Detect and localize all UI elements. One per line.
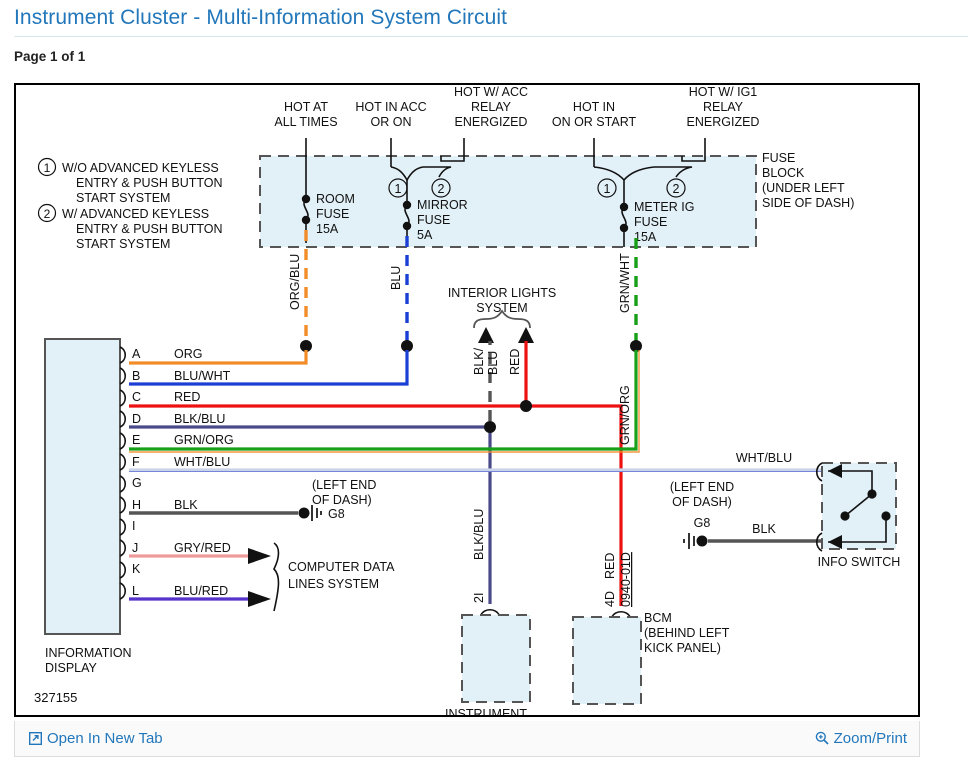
svg-text:RED: RED bbox=[174, 390, 200, 404]
magnifier-plus-icon bbox=[815, 731, 829, 749]
svg-text:E: E bbox=[132, 433, 140, 447]
page-root: Instrument Cluster - Multi-Information S… bbox=[0, 0, 968, 777]
svg-text:KICK PANEL): KICK PANEL) bbox=[644, 641, 721, 655]
svg-text:METER IG: METER IG bbox=[634, 200, 694, 214]
switch-contact-dot bbox=[867, 489, 876, 498]
open-in-new-tab-label: Open In New Tab bbox=[47, 730, 163, 747]
fuse-terminal-dot bbox=[403, 201, 411, 209]
svg-text:SIDE OF DASH): SIDE OF DASH) bbox=[762, 196, 854, 210]
legend-marker-1-text: 1 bbox=[44, 161, 51, 175]
wiring-diagram: HOT ATALL TIMES HOT IN ACCOR ON HOT W/ A… bbox=[16, 85, 918, 715]
svg-text:J: J bbox=[132, 541, 138, 555]
information-display-box bbox=[45, 339, 120, 634]
svg-text:(BEHIND LEFT: (BEHIND LEFT bbox=[644, 626, 730, 640]
ground-node-dot bbox=[299, 508, 310, 519]
label-blk-blu-lower: BLK/BLU bbox=[472, 509, 486, 560]
svg-text:ENERGIZED: ENERGIZED bbox=[455, 115, 528, 129]
information-display-label: INFORMATION DISPLAY bbox=[45, 646, 132, 675]
label-wht-blu-info-switch: WHT/BLU bbox=[736, 451, 792, 465]
label-org-blu: ORG/BLU bbox=[288, 254, 302, 310]
svg-text:GRY/RED: GRY/RED bbox=[174, 541, 231, 555]
svg-text:ON OR START: ON OR START bbox=[552, 115, 637, 129]
svg-text:HOT W/ ACC: HOT W/ ACC bbox=[454, 85, 528, 99]
svg-text:BLU/WHT: BLU/WHT bbox=[174, 369, 231, 383]
svg-text:FUSE: FUSE bbox=[316, 207, 349, 221]
title-divider bbox=[14, 36, 968, 37]
junction-dot-red bbox=[520, 400, 532, 412]
computer-data-arrow-1 bbox=[248, 548, 271, 564]
info-switch-label: INFO SWITCH bbox=[818, 555, 901, 569]
svg-text:BLK/BLU: BLK/BLU bbox=[174, 412, 225, 426]
fuse-terminal-dot bbox=[302, 195, 310, 203]
svg-text:FUSE: FUSE bbox=[417, 213, 450, 227]
fuse-terminal-dot bbox=[403, 222, 411, 230]
svg-text:OF DASH): OF DASH) bbox=[312, 493, 372, 507]
bcm-pin-wire-red: RED bbox=[603, 553, 617, 579]
svg-text:BLOCK: BLOCK bbox=[762, 166, 805, 180]
power-source-labels: HOT ATALL TIMES HOT IN ACCOR ON HOT W/ A… bbox=[274, 85, 759, 129]
label-blk-info-switch: BLK bbox=[752, 522, 776, 536]
instrument-cluster-pin: 2I bbox=[472, 593, 486, 603]
bcm-box bbox=[573, 617, 641, 704]
svg-text:HOT W/ IG1: HOT W/ IG1 bbox=[689, 85, 758, 99]
svg-text:K: K bbox=[132, 562, 141, 576]
svg-text:DISPLAY: DISPLAY bbox=[45, 661, 98, 675]
svg-text:G: G bbox=[132, 476, 142, 490]
svg-text:W/O ADVANCED KEYLESS: W/O ADVANCED KEYLESS bbox=[62, 161, 219, 175]
svg-text:SYSTEM: SYSTEM bbox=[476, 301, 527, 315]
svg-text:RELAY: RELAY bbox=[703, 100, 744, 114]
instrument-cluster-label: INSTRUMENT CLUSTER bbox=[445, 707, 527, 715]
left-end-of-dash-note-2: (LEFT END OF DASH) bbox=[670, 480, 734, 509]
svg-text:HOT AT: HOT AT bbox=[284, 100, 328, 114]
fuse-block-label: FUSE BLOCK (UNDER LEFT SIDE OF DASH) bbox=[762, 151, 854, 210]
svg-text:LINES SYSTEM: LINES SYSTEM bbox=[288, 577, 379, 591]
label-grn-org: GRN/ORG bbox=[618, 385, 632, 445]
junction-dot-blkblu bbox=[484, 421, 496, 433]
svg-text:BLK: BLK bbox=[174, 498, 198, 512]
svg-text:D: D bbox=[132, 412, 141, 426]
splice-marker-2: 2 bbox=[438, 182, 445, 196]
svg-text:C: C bbox=[132, 390, 141, 404]
zoom-print-label: Zoom/Print bbox=[834, 730, 907, 747]
label-red-upper: RED bbox=[508, 349, 522, 375]
fuse-terminal-dot bbox=[620, 224, 628, 232]
svg-text:HOT IN ACC: HOT IN ACC bbox=[355, 100, 426, 114]
svg-text:L: L bbox=[132, 584, 139, 598]
svg-text:ENERGIZED: ENERGIZED bbox=[687, 115, 760, 129]
svg-text:MIRROR: MIRROR bbox=[417, 198, 468, 212]
interior-lights-arrow-red bbox=[518, 327, 534, 343]
svg-text:RELAY: RELAY bbox=[471, 100, 512, 114]
page-title: Instrument Cluster - Multi-Information S… bbox=[14, 6, 507, 30]
svg-text:FUSE: FUSE bbox=[634, 215, 667, 229]
svg-text:START SYSTEM: START SYSTEM bbox=[76, 191, 170, 205]
label-grn-wht: GRN/WHT bbox=[618, 253, 632, 313]
fuse-terminal-dot bbox=[302, 216, 310, 224]
ground-label-g8-left: G8 bbox=[328, 507, 345, 521]
svg-text:OF DASH): OF DASH) bbox=[672, 495, 732, 509]
open-in-new-tab-button[interactable]: Open In New Tab bbox=[29, 730, 163, 749]
svg-text:5A: 5A bbox=[417, 228, 433, 242]
svg-text:BCM: BCM bbox=[644, 611, 672, 625]
svg-text:COMPUTER DATA: COMPUTER DATA bbox=[288, 560, 395, 574]
svg-text:(LEFT END: (LEFT END bbox=[312, 478, 376, 492]
svg-text:INTERIOR LIGHTS: INTERIOR LIGHTS bbox=[448, 286, 556, 300]
left-end-of-dash-note-1: (LEFT END OF DASH) bbox=[312, 478, 376, 507]
svg-text:A: A bbox=[132, 347, 141, 361]
svg-text:BLU/RED: BLU/RED bbox=[174, 584, 228, 598]
svg-text:WHT/BLU: WHT/BLU bbox=[174, 455, 230, 469]
svg-text:15A: 15A bbox=[316, 222, 339, 236]
svg-text:ENTRY & PUSH BUTTON: ENTRY & PUSH BUTTON bbox=[76, 222, 223, 236]
diagram-number: 327155 bbox=[34, 690, 77, 705]
viewer-footer: Open In New Tab Zoom/Print bbox=[14, 721, 920, 757]
zoom-print-button[interactable]: Zoom/Print bbox=[815, 730, 907, 749]
svg-text:I: I bbox=[132, 519, 135, 533]
svg-text:ALL TIMES: ALL TIMES bbox=[274, 115, 337, 129]
ground-label-g8-right: G8 bbox=[694, 516, 711, 530]
svg-text:F: F bbox=[132, 455, 140, 469]
computer-data-arrow-2 bbox=[248, 591, 271, 607]
fuse-terminal-dot bbox=[620, 203, 628, 211]
ground-symbol-g8-left bbox=[312, 505, 321, 521]
bcm-connector-code: 0940-01D bbox=[619, 552, 633, 607]
legend-entry-1: W/O ADVANCED KEYLESS ENTRY & PUSH BUTTON… bbox=[62, 161, 223, 205]
ground-node-dot bbox=[697, 536, 708, 547]
svg-text:INFORMATION: INFORMATION bbox=[45, 646, 132, 660]
svg-text:START SYSTEM: START SYSTEM bbox=[76, 237, 170, 251]
splice-marker-1: 1 bbox=[604, 182, 611, 196]
instrument-cluster-box bbox=[462, 615, 530, 702]
legend-marker-2-text: 2 bbox=[44, 207, 51, 221]
page-indicator: Page 1 of 1 bbox=[14, 49, 85, 64]
diagram-frame: HOT ATALL TIMES HOT IN ACCOR ON HOT W/ A… bbox=[14, 83, 920, 717]
splice-marker-1: 1 bbox=[395, 182, 402, 196]
wire-run-A-org bbox=[129, 350, 306, 363]
svg-text:GRN/ORG: GRN/ORG bbox=[174, 433, 234, 447]
svg-text:(UNDER LEFT: (UNDER LEFT bbox=[762, 181, 845, 195]
bcm-label: BCM (BEHIND LEFT KICK PANEL) bbox=[644, 611, 730, 655]
bcm-pin-4d: 4D bbox=[603, 591, 617, 607]
computer-data-brace bbox=[274, 543, 279, 611]
splice-marker-2: 2 bbox=[673, 182, 680, 196]
info-switch-box bbox=[822, 463, 896, 549]
svg-text:FUSE: FUSE bbox=[762, 151, 795, 165]
svg-text:ORG: ORG bbox=[174, 347, 202, 361]
svg-text:H: H bbox=[132, 498, 141, 512]
svg-text:ENTRY & PUSH BUTTON: ENTRY & PUSH BUTTON bbox=[76, 176, 223, 190]
svg-text:OR ON: OR ON bbox=[371, 115, 412, 129]
label-blk-blu-upper-b: BLU bbox=[486, 351, 500, 375]
svg-text:(LEFT END: (LEFT END bbox=[670, 480, 734, 494]
svg-text:HOT IN: HOT IN bbox=[573, 100, 615, 114]
interior-lights-arrow-blkblu bbox=[478, 327, 494, 343]
svg-text:ROOM: ROOM bbox=[316, 192, 355, 206]
label-blk-blu-upper-a: BLK/ bbox=[472, 347, 486, 375]
wire-run-B-blu-wht bbox=[129, 350, 407, 384]
svg-text:B: B bbox=[132, 369, 140, 383]
svg-text:INSTRUMENT: INSTRUMENT bbox=[445, 707, 527, 715]
external-link-icon bbox=[29, 732, 42, 749]
computer-data-lines-label: COMPUTER DATA LINES SYSTEM bbox=[288, 560, 395, 591]
legend-entry-2: W/ ADVANCED KEYLESS ENTRY & PUSH BUTTON … bbox=[62, 207, 223, 251]
svg-text:W/ ADVANCED KEYLESS: W/ ADVANCED KEYLESS bbox=[62, 207, 209, 221]
switch-contact-dot bbox=[881, 511, 890, 520]
label-blu: BLU bbox=[389, 266, 403, 290]
switch-contact-dot bbox=[840, 511, 849, 520]
ground-symbol-g8-right bbox=[684, 533, 694, 549]
